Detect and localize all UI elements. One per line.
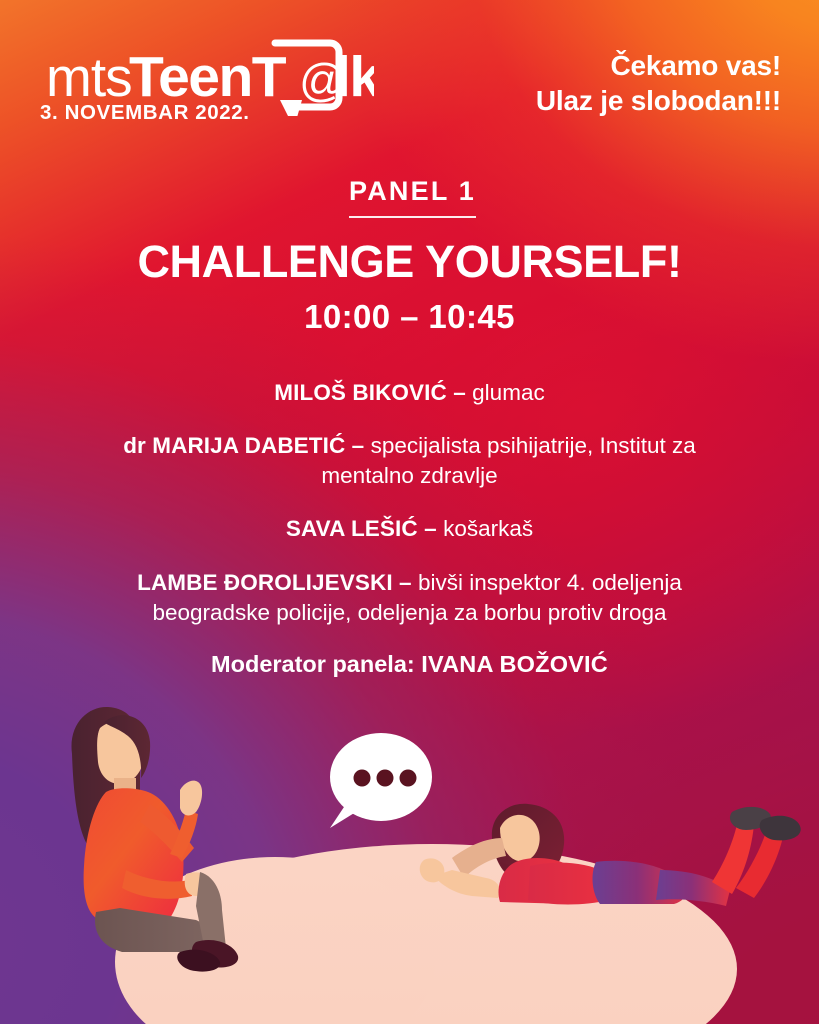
tagline: Čekamo vas! Ulaz je slobodan!!!	[536, 48, 781, 119]
speaker-separator: –	[418, 516, 443, 541]
moderator-name: IVANA BOŽOVIĆ	[421, 651, 608, 677]
figure-seated-girl	[71, 707, 238, 972]
speaker-role: specijalista psihijatrije, Institut za m…	[321, 433, 695, 488]
bubble-dot	[354, 770, 371, 787]
panel-tag-wrap: PANEL 1	[0, 176, 819, 218]
speaker-item: MILOŠ BIKOVIĆ – glumac	[0, 378, 819, 408]
panel-time: 10:00 – 10:45	[0, 298, 819, 336]
speaker-separator: –	[447, 380, 472, 405]
logo-text-mts: mts	[46, 46, 132, 108]
panel-content: PANEL 1 CHALLENGE YOURSELF! 10:00 – 10:4…	[0, 176, 819, 678]
seated-girl-hand-raised	[180, 781, 202, 816]
speaker-name: MILOŠ BIKOVIĆ	[274, 380, 447, 405]
speaker-item: dr MARIJA DABETIĆ – specijalista psihija…	[0, 431, 819, 491]
speaker-name: LAMBE ĐOROLIJEVSKI	[137, 570, 393, 595]
poster-header: mts TeenT @ lk 3. NOVEMBAR 2022. Čekamo …	[0, 0, 819, 150]
illustration	[0, 694, 819, 1024]
speaker-list: MILOŠ BIKOVIĆ – glumac dr MARIJA DABETIĆ…	[0, 378, 819, 678]
logo-text-teen: TeenT	[129, 45, 287, 109]
moderator-label: Moderator panela:	[211, 651, 415, 677]
speaker-item: LAMBE ĐOROLIJEVSKI – bivši inspektor 4. …	[0, 568, 819, 628]
speaker-item: SAVA LEŠIĆ – košarkaš	[0, 514, 819, 544]
speaker-separator: –	[393, 570, 418, 595]
speaker-name: SAVA LEŠIĆ	[286, 516, 418, 541]
figure-lying-girl	[420, 804, 801, 906]
speaker-role: košarkaš	[443, 516, 533, 541]
speaker-separator: –	[345, 433, 370, 458]
panel-title: CHALLENGE YOURSELF!	[0, 236, 819, 288]
speaker-role: glumac	[472, 380, 545, 405]
bubble-dot	[400, 770, 417, 787]
tagline-line-1: Čekamo vas!	[536, 48, 781, 83]
event-date: 3. NOVEMBAR 2022.	[40, 101, 250, 125]
panel-number-tag: PANEL 1	[349, 176, 476, 218]
tagline-line-2: Ulaz je slobodan!!!	[536, 83, 781, 118]
moderator-line: Moderator panela: IVANA BOŽOVIĆ	[0, 651, 819, 678]
bubble-dot	[377, 770, 394, 787]
poster-root: mts TeenT @ lk 3. NOVEMBAR 2022. Čekamo …	[0, 0, 819, 1024]
speaker-name: dr MARIJA DABETIĆ	[123, 433, 345, 458]
logo-text-lk: lk	[335, 45, 374, 109]
speech-bubble-ellipsis-icon	[330, 733, 432, 828]
